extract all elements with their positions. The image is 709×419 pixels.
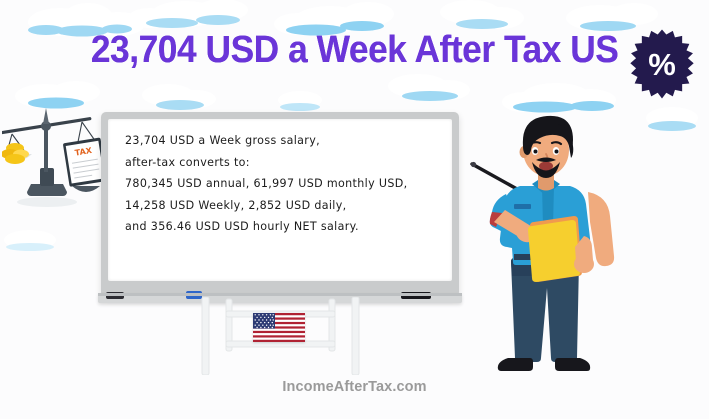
teacher-illustration: [470, 108, 660, 393]
wb-line-4: 14,258 USD Weekly, 2,852 USD daily,: [125, 195, 442, 217]
eraser-icon: [106, 292, 124, 299]
footer: IncomeAfterTax.com: [0, 378, 709, 400]
poster-canvas: 23,704 USD a Week After Tax US %: [0, 0, 709, 419]
whiteboard-text: 23,704 USD a Week gross salary, after-ta…: [125, 130, 442, 238]
wb-line-1: 23,704 USD a Week gross salary,: [125, 130, 442, 152]
page-title-text: 23,704 USD a Week After Tax US: [91, 29, 619, 72]
us-flag-svg: [253, 313, 305, 342]
wb-line-2: after-tax converts to:: [125, 152, 442, 174]
wb-line-3: 780,345 USD annual, 61,997 USD monthly U…: [125, 173, 442, 195]
page-title: 23,704 USD a Week After Tax US: [0, 22, 709, 78]
folder-icon: [528, 216, 582, 282]
percent-glyph: %: [626, 28, 698, 100]
wb-line-5: and 356.46 USD USD hourly NET salary.: [125, 216, 442, 238]
black-marker-icon: [401, 292, 431, 299]
percent-badge: %: [626, 28, 698, 100]
teacher-svg: [470, 108, 660, 393]
scales-svg: TAX: [2, 104, 114, 210]
us-flag: [253, 313, 305, 342]
site-name: IncomeAfterTax.com: [282, 379, 426, 395]
whiteboard-surface: 23,704 USD a Week gross salary, after-ta…: [108, 119, 452, 281]
balance-scales-icon: TAX: [2, 104, 114, 210]
whiteboard: 23,704 USD a Week gross salary, after-ta…: [101, 112, 459, 297]
